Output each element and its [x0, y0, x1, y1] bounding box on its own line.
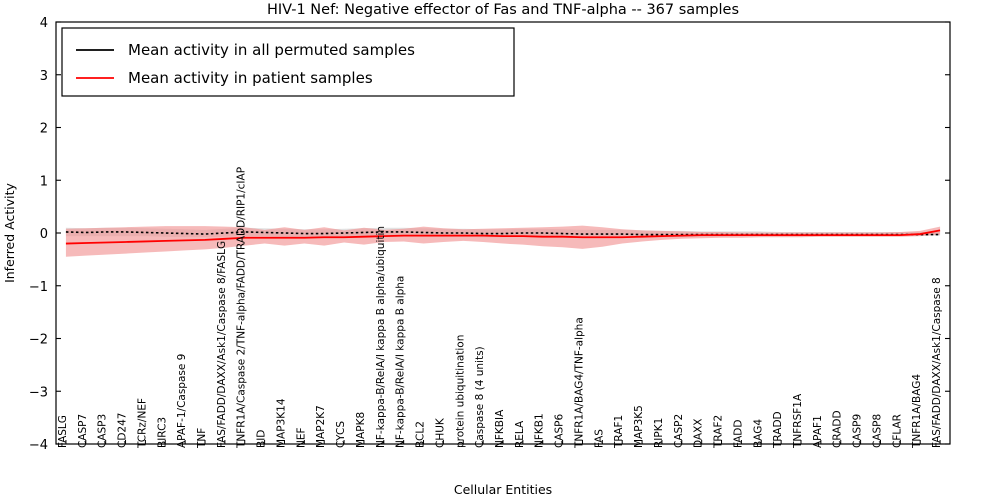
y-tick-label: −2 — [29, 333, 48, 348]
x-tick-label: MAP2K7 — [315, 405, 327, 448]
x-tick-label: BAG4 — [752, 419, 764, 448]
y-tick-label: −4 — [29, 438, 48, 453]
x-tick-label: protein ubiquitination — [454, 335, 466, 448]
x-tick-label: RIPK1 — [653, 418, 665, 448]
x-tick-label: MAP3K5 — [633, 405, 645, 448]
x-tick-label: CD247 — [117, 413, 129, 448]
y-tick-label: 3 — [40, 69, 48, 84]
x-tick-label: BCL2 — [415, 421, 427, 448]
x-tick-label: TNFRSF1A — [792, 393, 804, 449]
x-tick-label: FADD — [732, 420, 744, 448]
x-tick-label: TNFR1A/Caspase 2/TNF-alpha/FADD/TRADD/RI… — [236, 167, 248, 449]
x-tick-label: CASP3 — [97, 414, 109, 448]
x-tick-label: NF-kappa-B/RelA/I kappa B alpha/ubiquiti… — [375, 226, 387, 448]
x-tick-label: MAPK8 — [355, 412, 367, 448]
x-tick-label: FAS/FADD/DAXX/Ask1/Caspase 8/FASLG — [216, 241, 228, 448]
x-tick-label: CFLAR — [891, 414, 903, 448]
x-tick-label: CASP2 — [673, 414, 685, 448]
x-tick-label: TRAF2 — [713, 415, 725, 449]
x-tick-label: TRADD — [772, 411, 784, 449]
x-tick-label: CHUK — [434, 417, 446, 448]
x-tick-label: NFKBIA — [494, 409, 506, 448]
chart-figure: −4−3−2−101234FASLGCASP7CASP3CD247TCRz/NE… — [0, 0, 1000, 500]
chart-legend[interactable]: Mean activity in all permuted samplesMea… — [62, 28, 514, 96]
x-tick-label: TRAF1 — [613, 415, 625, 449]
x-tick-label: NF-kappa-B/RelA/I kappa B alpha — [395, 276, 407, 448]
x-tick-label: CYCS — [335, 421, 347, 448]
x-tick-label: FAS — [593, 429, 605, 448]
x-tick-label: CASP6 — [554, 413, 566, 448]
x-tick-label: CASP8 — [871, 414, 883, 448]
x-tick-label: CASP9 — [852, 414, 864, 448]
chart-title: HIV-1 Nef: Negative effector of Fas and … — [267, 2, 739, 18]
y-tick-label: −3 — [29, 385, 48, 400]
x-tick-label: BID — [256, 430, 268, 448]
y-tick-label: −1 — [29, 280, 48, 295]
legend-label-0: Mean activity in all permuted samples — [128, 41, 415, 59]
x-tick-label: DAXX — [693, 419, 705, 448]
x-tick-label: APAF1 — [812, 415, 824, 448]
y-tick-label: 2 — [40, 122, 48, 137]
x-axis-label: Cellular Entities — [454, 482, 552, 497]
x-tick-label: CRADD — [832, 410, 844, 448]
y-axis-label: Inferred Activity — [2, 182, 17, 282]
x-tick-label: FASLG — [57, 415, 69, 448]
x-tick-label: RELA — [514, 420, 526, 448]
x-tick-label: FAS/FADD/DAXX/Ask1/Caspase 8 — [931, 277, 943, 448]
x-tick-label: BIRC3 — [156, 417, 168, 448]
legend-label-1: Mean activity in patient samples — [128, 69, 373, 87]
x-tick-label: APAF-1/Caspase 9 — [176, 354, 188, 448]
x-tick-label: NFKB1 — [534, 413, 546, 448]
chart-canvas: −4−3−2−101234FASLGCASP7CASP3CD247TCRz/NE… — [0, 0, 1000, 500]
y-tick-label: 1 — [40, 174, 48, 189]
x-tick-label: NEF — [295, 427, 307, 448]
x-tick-label: TNFR1A/BAG4/TNF-alpha — [573, 317, 585, 449]
x-tick-label: TCRz/NEF — [136, 398, 148, 449]
y-tick-label: 0 — [40, 227, 48, 242]
x-tick-label: TNF — [196, 428, 208, 449]
x-tick-label: CASP7 — [77, 414, 89, 448]
x-tick-label: TNFR1A/BAG4 — [911, 374, 923, 449]
x-tick-label: MAP3K14 — [275, 398, 287, 448]
x-tick-label: Caspase 8 (4 units) — [474, 346, 486, 448]
y-tick-label: 4 — [40, 16, 48, 31]
